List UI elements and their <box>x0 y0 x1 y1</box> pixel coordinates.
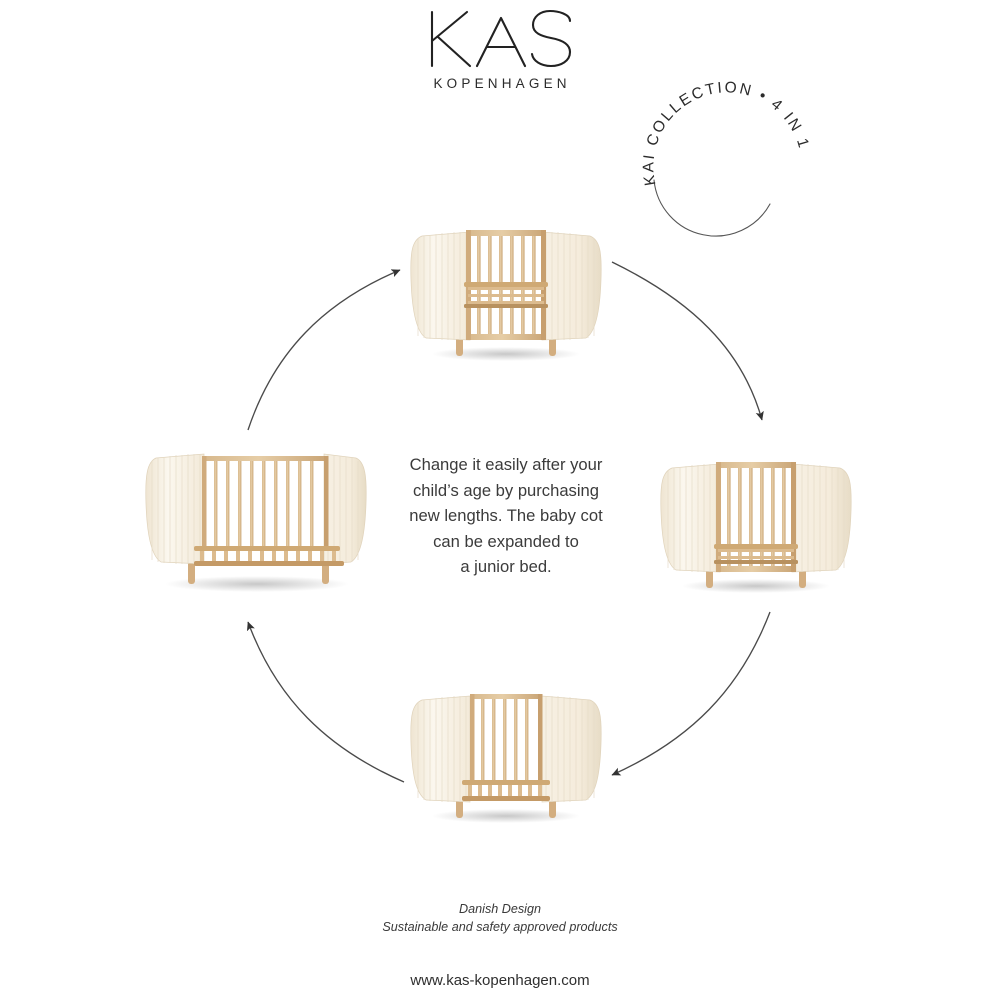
base-front-edge <box>714 560 798 564</box>
floor-shadow <box>682 579 830 593</box>
brand-logo: KOPENHAGEN <box>0 8 1000 91</box>
arrow-right-to-bottom-icon <box>612 612 770 775</box>
crib-slats <box>481 699 528 780</box>
base-slats <box>468 287 544 304</box>
crib-right <box>658 446 854 594</box>
floor-shadow <box>432 809 580 823</box>
crib-end-panel-left <box>661 464 720 572</box>
mattress-base <box>464 282 548 287</box>
crib-end-panel-right <box>542 696 601 802</box>
center-line: can be expanded to <box>390 529 622 555</box>
crib-bottom <box>408 676 604 824</box>
kas-wordmark-icon <box>410 8 590 70</box>
footer-website-url[interactable]: www.kas-kopenhagen.com <box>0 972 1000 989</box>
crib-end-panel-right <box>542 232 601 340</box>
crib-rail-top <box>716 462 796 468</box>
crib-rail-post <box>202 456 207 546</box>
crib-end-panel-left <box>411 696 470 802</box>
center-line: child’s age by purchasing <box>390 478 622 504</box>
crib-slats <box>214 461 313 546</box>
crib-rail-top <box>470 694 542 699</box>
crib-left <box>144 442 370 594</box>
footer-tagline: Danish Design Sustainable and safety app… <box>0 900 1000 936</box>
crib-end-panel-right <box>792 464 851 572</box>
brand-subtitle: KOPENHAGEN <box>0 76 1000 91</box>
badge-arc-icon <box>654 180 770 236</box>
base-front-edge <box>462 796 550 801</box>
center-line: Change it easily after your <box>390 452 622 478</box>
crib-rail-post <box>538 694 543 780</box>
mattress-base <box>462 780 550 785</box>
footer-tagline-line1: Danish Design <box>0 900 1000 918</box>
center-description: Change it easily after your child’s age … <box>390 452 622 580</box>
center-line: new lengths. The baby cot <box>390 503 622 529</box>
base-front-edge <box>194 561 344 566</box>
arrow-top-to-right-icon <box>612 262 762 420</box>
crib-end-panel-left <box>411 232 470 340</box>
footer-tagline-line2: Sustainable and safety approved products <box>0 918 1000 936</box>
mattress-base <box>194 546 340 551</box>
badge-text: KAI COLLECTION • 4 IN 1 <box>640 79 812 187</box>
crib-rail-post <box>791 462 796 572</box>
crib-rail-top <box>202 456 328 461</box>
crib-rail-bottom <box>466 334 546 340</box>
center-line: a junior bed. <box>390 554 622 580</box>
floor-shadow <box>432 347 580 361</box>
crib-rail-post <box>470 694 475 780</box>
crib-top <box>408 214 604 362</box>
base-front-edge <box>464 304 548 308</box>
crib-rail-top <box>466 230 546 236</box>
poster-canvas: KOPENHAGEN KAI COLLECTION • 4 IN 1 <box>0 0 1000 1000</box>
crib-rail-post <box>716 462 721 572</box>
mattress-base <box>714 544 798 549</box>
kai-collection-badge: KAI COLLECTION • 4 IN 1 <box>628 74 836 246</box>
crib-rail-post <box>324 456 329 546</box>
arrow-bottom-to-left-icon <box>248 622 404 782</box>
crib-rail-bottom <box>716 566 796 572</box>
arrow-left-to-top-icon <box>248 270 400 430</box>
